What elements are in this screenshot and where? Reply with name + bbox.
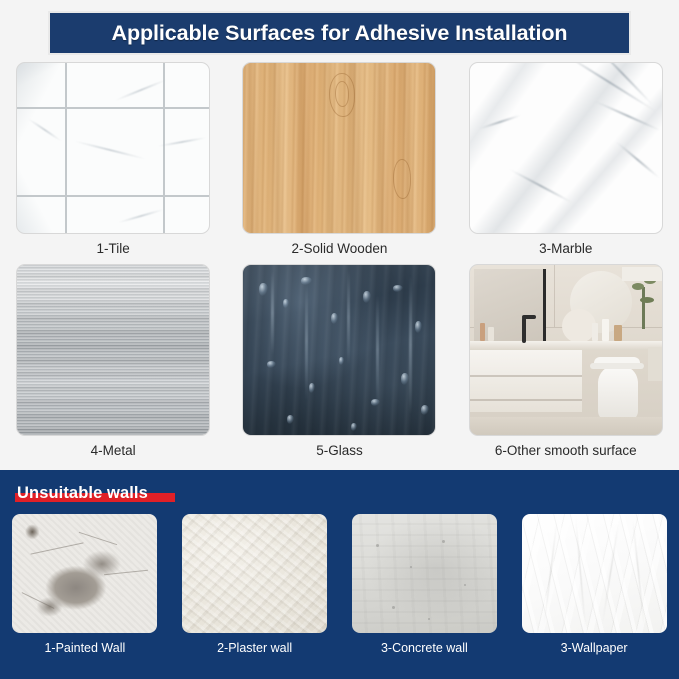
unsuitable-walls-heading: Unsuitable walls [17, 484, 148, 503]
surface-item-solid-wooden[interactable]: 2-Solid Wooden [226, 62, 452, 264]
concrete-wall-swatch [352, 514, 497, 633]
surface-caption: 6-Other smooth surface [495, 443, 637, 458]
unsuitable-item-wallpaper[interactable]: 3-Wallpaper [509, 514, 679, 655]
surface-caption: 5-Glass [316, 443, 363, 458]
surface-item-glass[interactable]: 5-Glass [226, 264, 452, 466]
applicable-surfaces-grid: 1-Tile 2-Solid Wooden 3-Marble [0, 62, 679, 466]
unsuitable-walls-section: Unsuitable walls 1-Painted Wall 2-Plaste… [0, 470, 679, 679]
bathroom-photo-swatch [469, 264, 663, 436]
surface-item-metal[interactable]: 4-Metal [0, 264, 226, 466]
unsuitable-caption: 3-Wallpaper [561, 641, 628, 655]
surface-caption: 1-Tile [97, 241, 130, 256]
header-banner: Applicable Surfaces for Adhesive Install… [48, 11, 631, 55]
surface-item-marble[interactable]: 3-Marble [453, 62, 679, 264]
surface-caption: 4-Metal [91, 443, 136, 458]
unsuitable-walls-label: Unsuitable walls [17, 484, 148, 502]
metal-swatch [16, 264, 210, 436]
unsuitable-walls-grid: 1-Painted Wall 2-Plaster wall 3-Concrete… [0, 514, 679, 655]
plaster-wall-swatch [182, 514, 327, 633]
marble-swatch [469, 62, 663, 234]
unsuitable-caption: 2-Plaster wall [217, 641, 292, 655]
unsuitable-caption: 1-Painted Wall [44, 641, 125, 655]
wood-swatch [242, 62, 436, 234]
unsuitable-caption: 3-Concrete wall [381, 641, 468, 655]
unsuitable-item-concrete-wall[interactable]: 3-Concrete wall [340, 514, 510, 655]
wallpaper-swatch [522, 514, 667, 633]
unsuitable-item-painted-wall[interactable]: 1-Painted Wall [0, 514, 170, 655]
painted-wall-swatch [12, 514, 157, 633]
glass-swatch [242, 264, 436, 436]
tile-swatch [16, 62, 210, 234]
surface-caption: 2-Solid Wooden [292, 241, 388, 256]
surface-item-other-smooth-surface[interactable]: 6-Other smooth surface [453, 264, 679, 466]
surface-item-tile[interactable]: 1-Tile [0, 62, 226, 264]
surface-caption: 3-Marble [539, 241, 592, 256]
unsuitable-item-plaster-wall[interactable]: 2-Plaster wall [170, 514, 340, 655]
page-title: Applicable Surfaces for Adhesive Install… [112, 21, 568, 46]
applicable-surfaces-section: Applicable Surfaces for Adhesive Install… [0, 0, 679, 470]
